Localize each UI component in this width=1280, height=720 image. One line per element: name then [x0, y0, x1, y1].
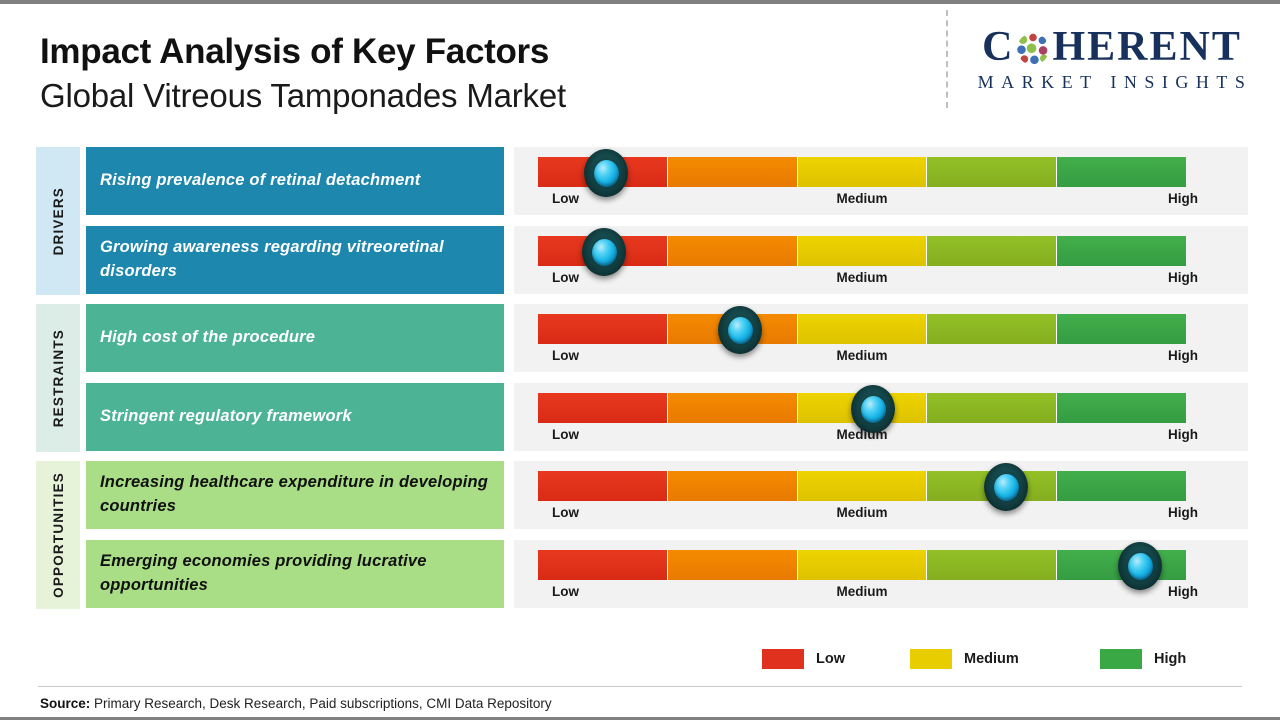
- gauge-label-medium: Medium: [836, 427, 887, 442]
- legend-item-high: High: [1100, 649, 1186, 669]
- gauge-segment-low-mid: [668, 157, 798, 187]
- gauge-segment-mid-high: [927, 314, 1057, 344]
- gauge-label-high: High: [1168, 505, 1198, 520]
- legend-item-medium: Medium: [910, 649, 1019, 669]
- gauge-segment-high: [1057, 314, 1186, 344]
- gauge-segment-mid-high: [927, 157, 1057, 187]
- gauge-marker-core: [728, 317, 753, 344]
- gauge-segment-medium: [798, 550, 928, 580]
- legend-label: Low: [816, 651, 845, 667]
- source-line: Source: Primary Research, Desk Research,…: [40, 696, 552, 711]
- gauge-label-medium: Medium: [836, 505, 887, 520]
- source-label: Source:: [40, 696, 90, 711]
- gauge-marker-sphere-icon[interactable]: [718, 306, 762, 354]
- legend-swatch-high: [1100, 649, 1142, 669]
- legend-swatch-medium: [910, 649, 952, 669]
- category-tab-restraints: RESTRAINTS: [36, 304, 80, 452]
- title-block: Impact Analysis of Key Factors Global Vi…: [40, 32, 566, 116]
- gauge-marker-sphere-icon[interactable]: [851, 385, 895, 433]
- gauge-row: Low Medium High: [514, 226, 1248, 294]
- gauge-segment-high: [1057, 393, 1186, 423]
- gauge-label-medium: Medium: [836, 348, 887, 363]
- factor-label: Rising prevalence of retinal detachment: [100, 169, 420, 193]
- gauge-bar: [538, 157, 1186, 187]
- gauge-segment-mid-high: [927, 550, 1057, 580]
- gauge-marker-sphere-icon[interactable]: [582, 228, 626, 276]
- factor-label: Increasing healthcare expenditure in dev…: [100, 471, 490, 519]
- gauge-segment-low: [538, 471, 668, 501]
- gauge-marker-core: [1128, 553, 1153, 580]
- category-tab-label: OPPORTUNITIES: [51, 472, 66, 598]
- gauge-scale-labels: Low Medium High: [538, 191, 1186, 211]
- gauge-label-medium: Medium: [836, 191, 887, 206]
- gauge-bar: [538, 550, 1186, 580]
- footer-divider: [38, 686, 1242, 687]
- gauge-marker-core: [592, 239, 617, 266]
- gauge-segment-medium: [798, 471, 928, 501]
- slide-header: Impact Analysis of Key Factors Global Vi…: [0, 4, 1280, 136]
- factor-label: High cost of the procedure: [100, 326, 315, 350]
- gauge-segment-low-mid: [668, 236, 798, 266]
- gauge-row: Low Medium High: [514, 304, 1248, 372]
- factor-box: Stringent regulatory framework: [86, 383, 504, 451]
- gauge-marker-core: [594, 160, 619, 187]
- legend-item-low: Low: [762, 649, 845, 669]
- gauge-segment-medium: [798, 157, 928, 187]
- gauge-scale-labels: Low Medium High: [538, 348, 1186, 368]
- gauge-scale-labels: Low Medium High: [538, 270, 1186, 290]
- gauge-segment-medium: [798, 236, 928, 266]
- logo-wordmark: C HERENT: [962, 26, 1262, 68]
- gauge-bar: [538, 471, 1186, 501]
- gauge-label-high: High: [1168, 584, 1198, 599]
- legend-label: Medium: [964, 651, 1019, 667]
- gauge-segment-high: [1057, 157, 1186, 187]
- logo-divider: [946, 10, 948, 108]
- gauge-scale-labels: Low Medium High: [538, 427, 1186, 447]
- page-subtitle: Global Vitreous Tamponades Market: [40, 76, 566, 116]
- gauge-marker-sphere-icon[interactable]: [1118, 542, 1162, 590]
- gauge-segment-high: [1057, 236, 1186, 266]
- gauge-bar: [538, 314, 1186, 344]
- gauge-row: Low Medium High: [514, 383, 1248, 451]
- factor-box: Rising prevalence of retinal detachment: [86, 147, 504, 215]
- gauge-label-high: High: [1168, 427, 1198, 442]
- gauge-bar: [538, 236, 1186, 266]
- legend-swatch-low: [762, 649, 804, 669]
- factor-box: Growing awareness regarding vitreoretina…: [86, 226, 504, 294]
- factor-label: Stringent regulatory framework: [100, 405, 352, 429]
- category-tab-label: RESTRAINTS: [51, 329, 66, 427]
- category-tab-drivers: DRIVERS: [36, 147, 80, 295]
- page-title: Impact Analysis of Key Factors: [40, 32, 566, 72]
- gauge-segment-high: [1057, 471, 1186, 501]
- gauge-marker-sphere-icon[interactable]: [984, 463, 1028, 511]
- gauge-label-low: Low: [552, 348, 579, 363]
- logo-letters-herent: HERENT: [1052, 26, 1241, 68]
- gauge-segment-medium: [798, 314, 928, 344]
- gauge-segment-low-mid: [668, 550, 798, 580]
- gauge-segment-low-mid: [668, 471, 798, 501]
- gauge-scale-labels: Low Medium High: [538, 584, 1186, 604]
- category-tab-opportunities: OPPORTUNITIES: [36, 461, 80, 609]
- factor-box: High cost of the procedure: [86, 304, 504, 372]
- factor-box: Increasing healthcare expenditure in dev…: [86, 461, 504, 529]
- gauge-scale-labels: Low Medium High: [538, 505, 1186, 525]
- gauge-segment-low: [538, 314, 668, 344]
- category-tab-label: DRIVERS: [51, 187, 66, 255]
- logo-letter-c: C: [982, 26, 1014, 68]
- logo-tagline: MARKET INSIGHTS: [962, 72, 1262, 93]
- gauge-label-medium: Medium: [836, 270, 887, 285]
- gauge-label-low: Low: [552, 505, 579, 520]
- factor-box: Emerging economies providing lucrative o…: [86, 540, 504, 608]
- gauge-row: Low Medium High: [514, 461, 1248, 529]
- gauge-label-low: Low: [552, 584, 579, 599]
- gauge-marker-core: [994, 474, 1019, 501]
- company-logo: C HERENT MARKET INSIGHTS: [962, 26, 1262, 93]
- gauge-segment-mid-high: [927, 236, 1057, 266]
- gauge-marker-sphere-icon[interactable]: [584, 149, 628, 197]
- gauge-segment-low: [538, 550, 668, 580]
- factor-label: Growing awareness regarding vitreoretina…: [100, 236, 490, 284]
- gauge-label-low: Low: [552, 270, 579, 285]
- gauge-row: Low Medium High: [514, 147, 1248, 215]
- gauge-label-low: Low: [552, 427, 579, 442]
- factor-label: Emerging economies providing lucrative o…: [100, 550, 490, 598]
- gauge-label-high: High: [1168, 270, 1198, 285]
- legend-label: High: [1154, 651, 1186, 667]
- gauge-label-medium: Medium: [836, 584, 887, 599]
- gauge-row: Low Medium High: [514, 540, 1248, 608]
- gauge-label-high: High: [1168, 348, 1198, 363]
- gauge-label-low: Low: [552, 191, 579, 206]
- legend: Low Medium High: [762, 649, 1192, 673]
- globe-icon: [1015, 31, 1051, 67]
- gauge-label-high: High: [1168, 191, 1198, 206]
- gauge-marker-core: [861, 396, 886, 423]
- source-text: Primary Research, Desk Research, Paid su…: [90, 696, 551, 711]
- gauge-segment-mid-high: [927, 393, 1057, 423]
- gauge-segment-low: [538, 393, 668, 423]
- gauge-segment-low-mid: [668, 393, 798, 423]
- impact-analysis-slide: Impact Analysis of Key Factors Global Vi…: [0, 0, 1280, 720]
